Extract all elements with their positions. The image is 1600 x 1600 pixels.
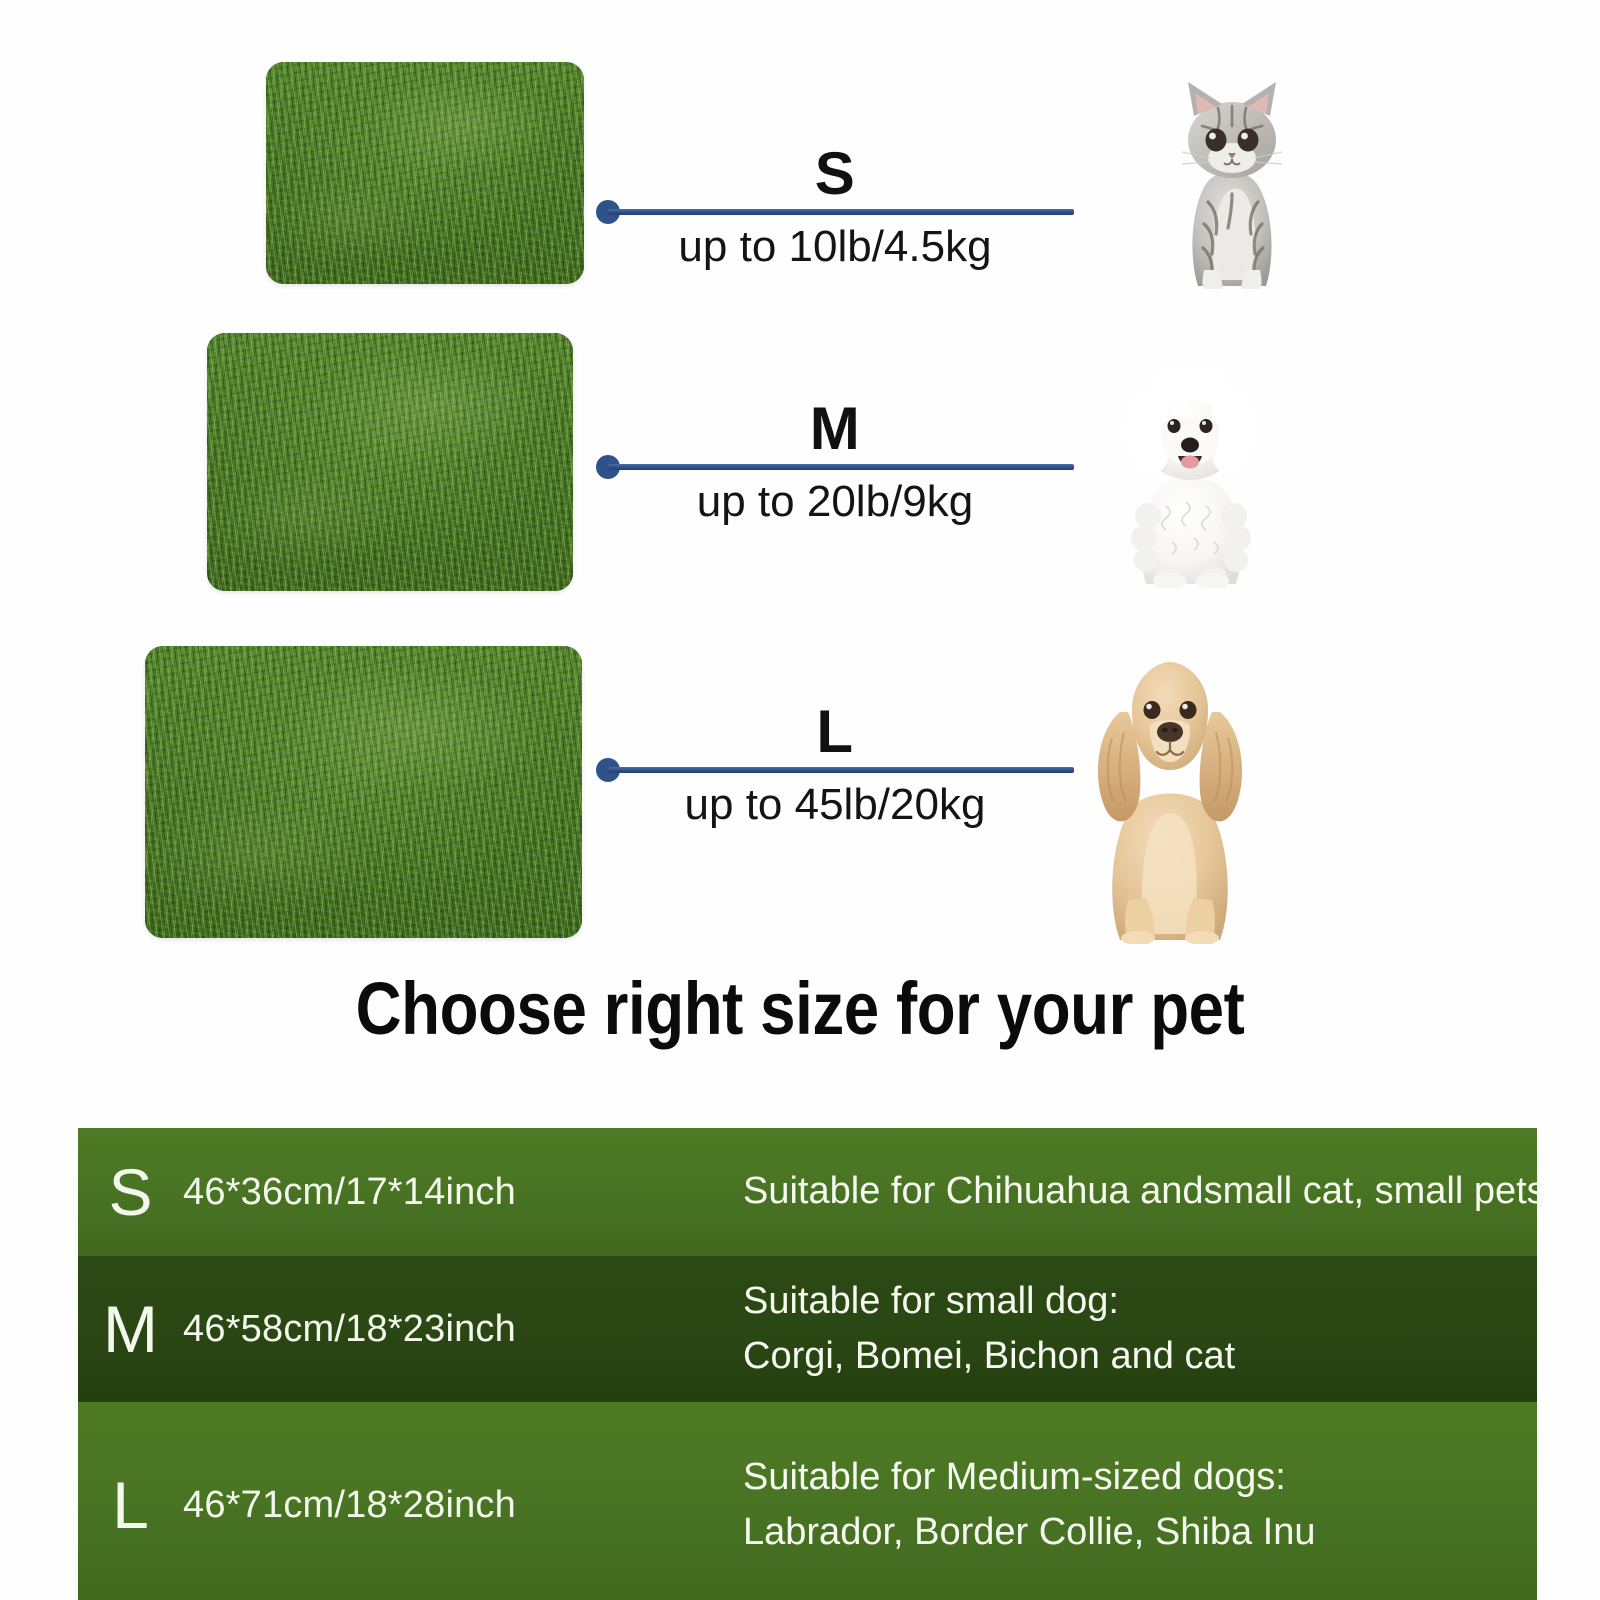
kitten-photo [1148,74,1314,292]
page-title: Choose right size for your pet [112,966,1488,1051]
spaniel-photo [1062,652,1278,944]
turf-sheen [266,62,584,284]
description-line-2: Labrador, Border Collie, Shiba Inu [743,1505,1537,1560]
table-cell-dimensions: 46*58cm/18*23inch [183,1308,743,1351]
table-cell-description: Suitable for Medium-sized dogs: Labrador… [743,1450,1537,1560]
table-cell-dimensions: 46*71cm/18*28inch [183,1484,743,1527]
weight-range-s: up to 10lb/4.5kg [596,224,1074,270]
weight-range-m: up to 20lb/9kg [596,479,1074,525]
size-table: S 46*36cm/17*14inch Suitable for Chihuah… [78,1128,1537,1600]
bichon-photo [1098,366,1282,588]
table-cell-description: Suitable for Chihuahua andsmall cat, sma… [743,1164,1546,1219]
table-row: L 46*71cm/18*28inch Suitable for Medium-… [78,1402,1537,1600]
table-cell-dimensions: 46*36cm/17*14inch [183,1171,743,1214]
description-line-2: Corgi, Bomei, Bichon and cat [743,1329,1537,1384]
size-letter-l: L [596,702,1074,762]
description-line-1: Suitable for Medium-sized dogs: [743,1450,1537,1505]
size-letter-s: S [596,144,1074,204]
connector-line [608,209,1074,215]
table-cell-description: Suitable for small dog: Corgi, Bomei, Bi… [743,1274,1537,1384]
table-cell-size: L [78,1472,183,1538]
grass-mat-small [266,62,584,284]
description-line-1: Suitable for Chihuahua andsmall cat, sma… [743,1164,1546,1219]
table-row: S 46*36cm/17*14inch Suitable for Chihuah… [78,1128,1537,1256]
table-row: M 46*58cm/18*23inch Suitable for small d… [78,1256,1537,1402]
weight-range-l: up to 45lb/20kg [596,782,1074,828]
connector-line [608,464,1074,470]
size-letter-m: M [596,399,1074,459]
table-cell-size: M [78,1296,183,1362]
description-line-1: Suitable for small dog: [743,1274,1537,1329]
table-cell-size: S [78,1159,183,1225]
grass-mat-medium [207,333,573,591]
grass-mat-large [145,646,582,938]
turf-sheen [207,333,573,591]
size-guide-infographic: S up to 10lb/4.5kg M up to 20lb/9kg L up… [0,0,1600,1600]
turf-sheen [145,646,582,938]
connector-line [608,767,1074,773]
